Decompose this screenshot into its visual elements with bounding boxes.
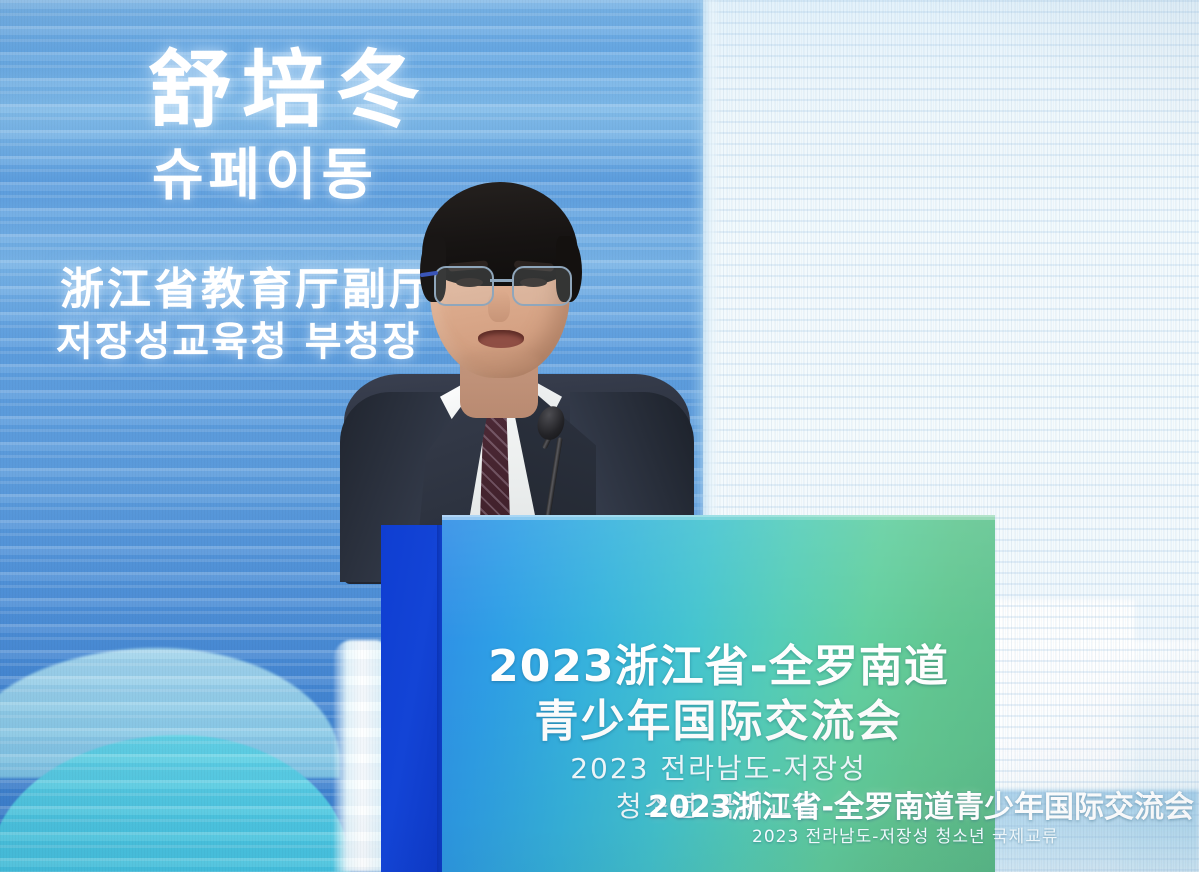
overlay-title-chinese: 2023浙江省-全罗南道青少年国际交流会 xyxy=(648,792,1199,824)
chin-shadow xyxy=(460,350,540,374)
overlay-banner: 2023浙江省-全罗南道青少年国际交流会 2023 전라남도-저장성 청소년 국… xyxy=(648,792,1199,860)
glasses-bridge xyxy=(490,279,512,282)
mouth xyxy=(478,330,524,348)
overlay-title-korean: 2023 전라남도-저장성 청소년 국제교류 xyxy=(752,828,1172,847)
podium-side-panel xyxy=(381,525,443,872)
lens-left xyxy=(434,266,494,306)
lens-right xyxy=(512,266,572,306)
podium-title-korean-line1: 2023 전라남도-저장성 xyxy=(442,755,995,783)
eyeglasses xyxy=(434,266,568,304)
photo-canvas: 舒培冬 슈페이동 浙江省教育厅副厅长 저장성교육청 부청장 xyxy=(0,0,1199,872)
podium-top-edge xyxy=(442,515,995,520)
speaker-name-chinese: 舒培冬 xyxy=(148,48,430,132)
speaker-name-korean: 슈페이동 xyxy=(152,148,378,204)
podium-title-chinese-line1: 2023浙江省-全罗南道 xyxy=(442,645,995,689)
podium-title-chinese-line2: 青少年国际交流会 xyxy=(442,700,995,744)
